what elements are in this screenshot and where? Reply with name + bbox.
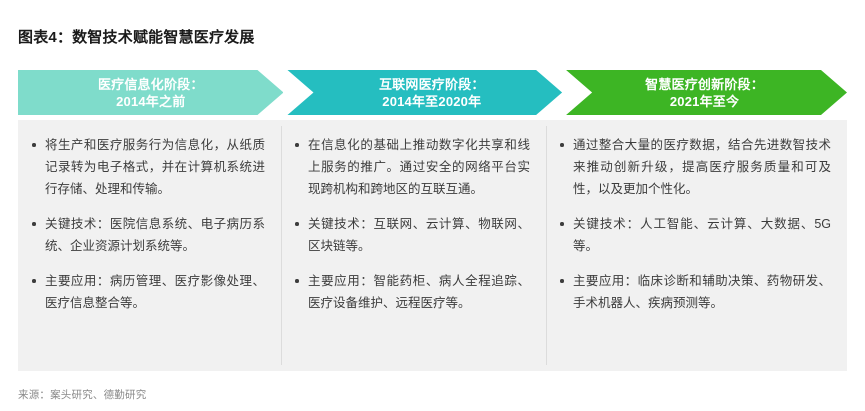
bullet-dot-icon	[32, 279, 36, 283]
list-item-text: 关键技术：互联网、云计算、物联网、区块链等。	[308, 217, 530, 253]
list-item: 主要应用：智能药柜、病人全程追踪、医疗设备维护、远程医疗等。	[293, 270, 530, 314]
stage-header-label: 互联网医疗阶段： 2014年至2020年	[379, 76, 485, 110]
list-item: 关键技术：互联网、云计算、物联网、区块链等。	[293, 213, 530, 257]
list-item-text: 关键技术：人工智能、云计算、大数据、5G等。	[573, 217, 831, 253]
stage-period: 2014年之前	[98, 93, 204, 110]
source-note: 来源：案头研究、德勤研究	[18, 387, 146, 402]
bullet-dot-icon	[295, 143, 299, 147]
page-title: 图表4：数智技术赋能智慧医疗发展	[18, 26, 255, 47]
list-item: 关键技术：人工智能、云计算、大数据、5G等。	[558, 213, 831, 257]
stage-body-row: 将生产和医疗服务行为信息化，从纸质记录转为电子格式，并在计算机系统进行存储、处理…	[18, 120, 847, 371]
bullet-dot-icon	[295, 279, 299, 283]
stage-header-bar: 医疗信息化阶段： 2014年之前 互联网医疗阶段： 2014年至2020年 智慧…	[18, 70, 847, 115]
list-item-text: 主要应用：病历管理、医疗影像处理、医疗信息整合等。	[45, 274, 265, 310]
list-item: 关键技术：医院信息系统、电子病历系统、企业资源计划系统等。	[30, 213, 265, 257]
stage-name: 互联网医疗阶段：	[379, 77, 485, 92]
stage-body-informatization: 将生产和医疗服务行为信息化，从纸质记录转为电子格式，并在计算机系统进行存储、处理…	[18, 120, 281, 371]
stage-period: 2014年至2020年	[379, 93, 485, 110]
list-item: 通过整合大量的医疗数据，结合先进数智技术来推动创新升级，提高医疗服务质量和可及性…	[558, 134, 831, 200]
list-item-text: 主要应用：临床诊断和辅助决策、药物研发、手术机器人、疾病预测等。	[573, 274, 831, 310]
bullet-dot-icon	[32, 143, 36, 147]
stage-header-smart-healthcare-innovation: 智慧医疗创新阶段： 2021年至今	[566, 70, 847, 115]
bullet-dot-icon	[560, 279, 564, 283]
stage-header-informatization: 医疗信息化阶段： 2014年之前	[18, 70, 283, 115]
bullet-dot-icon	[560, 143, 564, 147]
bullet-list: 在信息化的基础上推动数字化共享和线上服务的推广。通过安全的网络平台实现跨机构和跨…	[293, 134, 530, 314]
stage-header-internet-healthcare: 互联网医疗阶段： 2014年至2020年	[287, 70, 562, 115]
bullet-list: 通过整合大量的医疗数据，结合先进数智技术来推动创新升级，提高医疗服务质量和可及性…	[558, 134, 831, 314]
stage-period: 2021年至今	[645, 93, 764, 110]
list-item: 将生产和医疗服务行为信息化，从纸质记录转为电子格式，并在计算机系统进行存储、处理…	[30, 134, 265, 200]
bullet-list: 将生产和医疗服务行为信息化，从纸质记录转为电子格式，并在计算机系统进行存储、处理…	[30, 134, 265, 314]
stage-header-label: 智慧医疗创新阶段： 2021年至今	[645, 76, 764, 110]
list-item-text: 主要应用：智能药柜、病人全程追踪、医疗设备维护、远程医疗等。	[308, 274, 530, 310]
bullet-dot-icon	[560, 222, 564, 226]
bullet-dot-icon	[32, 222, 36, 226]
list-item: 在信息化的基础上推动数字化共享和线上服务的推广。通过安全的网络平台实现跨机构和跨…	[293, 134, 530, 200]
stage-name: 医疗信息化阶段：	[98, 77, 204, 92]
figure-page: { "figure": { "title": "图表4：数智技术赋能智慧医疗发展…	[0, 0, 865, 411]
stage-name: 智慧医疗创新阶段：	[645, 77, 764, 92]
list-item: 主要应用：病历管理、医疗影像处理、医疗信息整合等。	[30, 270, 265, 314]
bullet-dot-icon	[295, 222, 299, 226]
list-item: 主要应用：临床诊断和辅助决策、药物研发、手术机器人、疾病预测等。	[558, 270, 831, 314]
stage-body-internet-healthcare: 在信息化的基础上推动数字化共享和线上服务的推广。通过安全的网络平台实现跨机构和跨…	[281, 120, 546, 371]
stage-header-label: 医疗信息化阶段： 2014年之前	[98, 76, 204, 110]
list-item-text: 关键技术：医院信息系统、电子病历系统、企业资源计划系统等。	[45, 217, 265, 253]
list-item-text: 通过整合大量的医疗数据，结合先进数智技术来推动创新升级，提高医疗服务质量和可及性…	[573, 138, 831, 196]
stage-body-smart-healthcare-innovation: 通过整合大量的医疗数据，结合先进数智技术来推动创新升级，提高医疗服务质量和可及性…	[546, 120, 847, 371]
list-item-text: 将生产和医疗服务行为信息化，从纸质记录转为电子格式，并在计算机系统进行存储、处理…	[45, 138, 265, 196]
list-item-text: 在信息化的基础上推动数字化共享和线上服务的推广。通过安全的网络平台实现跨机构和跨…	[308, 138, 530, 196]
